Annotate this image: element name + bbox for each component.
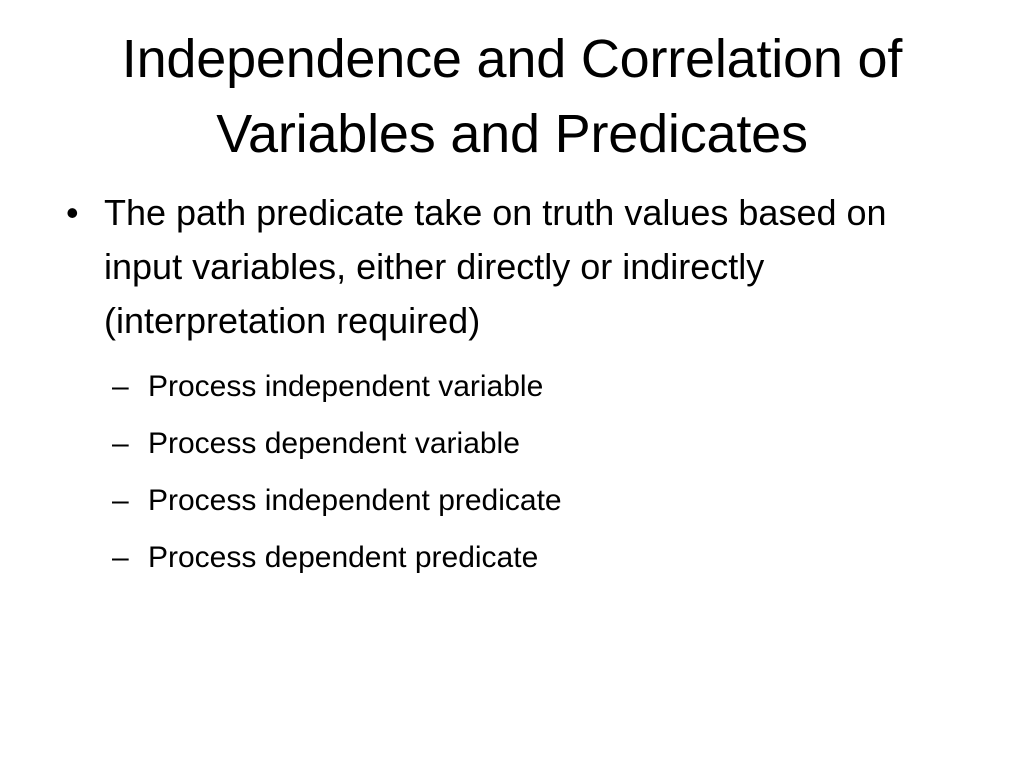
dash-icon: –: [112, 472, 140, 529]
bullet-item-level2: – Process independent variable: [60, 358, 980, 415]
slide-title: Independence and Correlation of Variable…: [40, 22, 984, 171]
bullet-item-level1: • The path predicate take on truth value…: [60, 186, 980, 348]
slide: Independence and Correlation of Variable…: [0, 0, 1024, 768]
dash-icon: –: [112, 415, 140, 472]
dash-icon: –: [112, 358, 140, 415]
bullet-level1-text: The path predicate take on truth values …: [104, 186, 962, 348]
slide-body: • The path predicate take on truth value…: [60, 186, 980, 586]
bullet-item-level2: – Process dependent predicate: [60, 529, 980, 586]
bullet-item-level2: – Process dependent variable: [60, 415, 980, 472]
bullet-dot-icon: •: [66, 186, 92, 240]
bullet-item-level2: – Process independent predicate: [60, 472, 980, 529]
bullet-level2-text: Process independent predicate: [148, 484, 562, 517]
bullet-level2-text: Process dependent variable: [148, 427, 520, 460]
dash-icon: –: [112, 529, 140, 586]
sub-bullet-list: – Process independent variable – Process…: [60, 358, 980, 586]
bullet-level2-text: Process dependent predicate: [148, 541, 538, 574]
bullet-level2-text: Process independent variable: [148, 370, 543, 403]
